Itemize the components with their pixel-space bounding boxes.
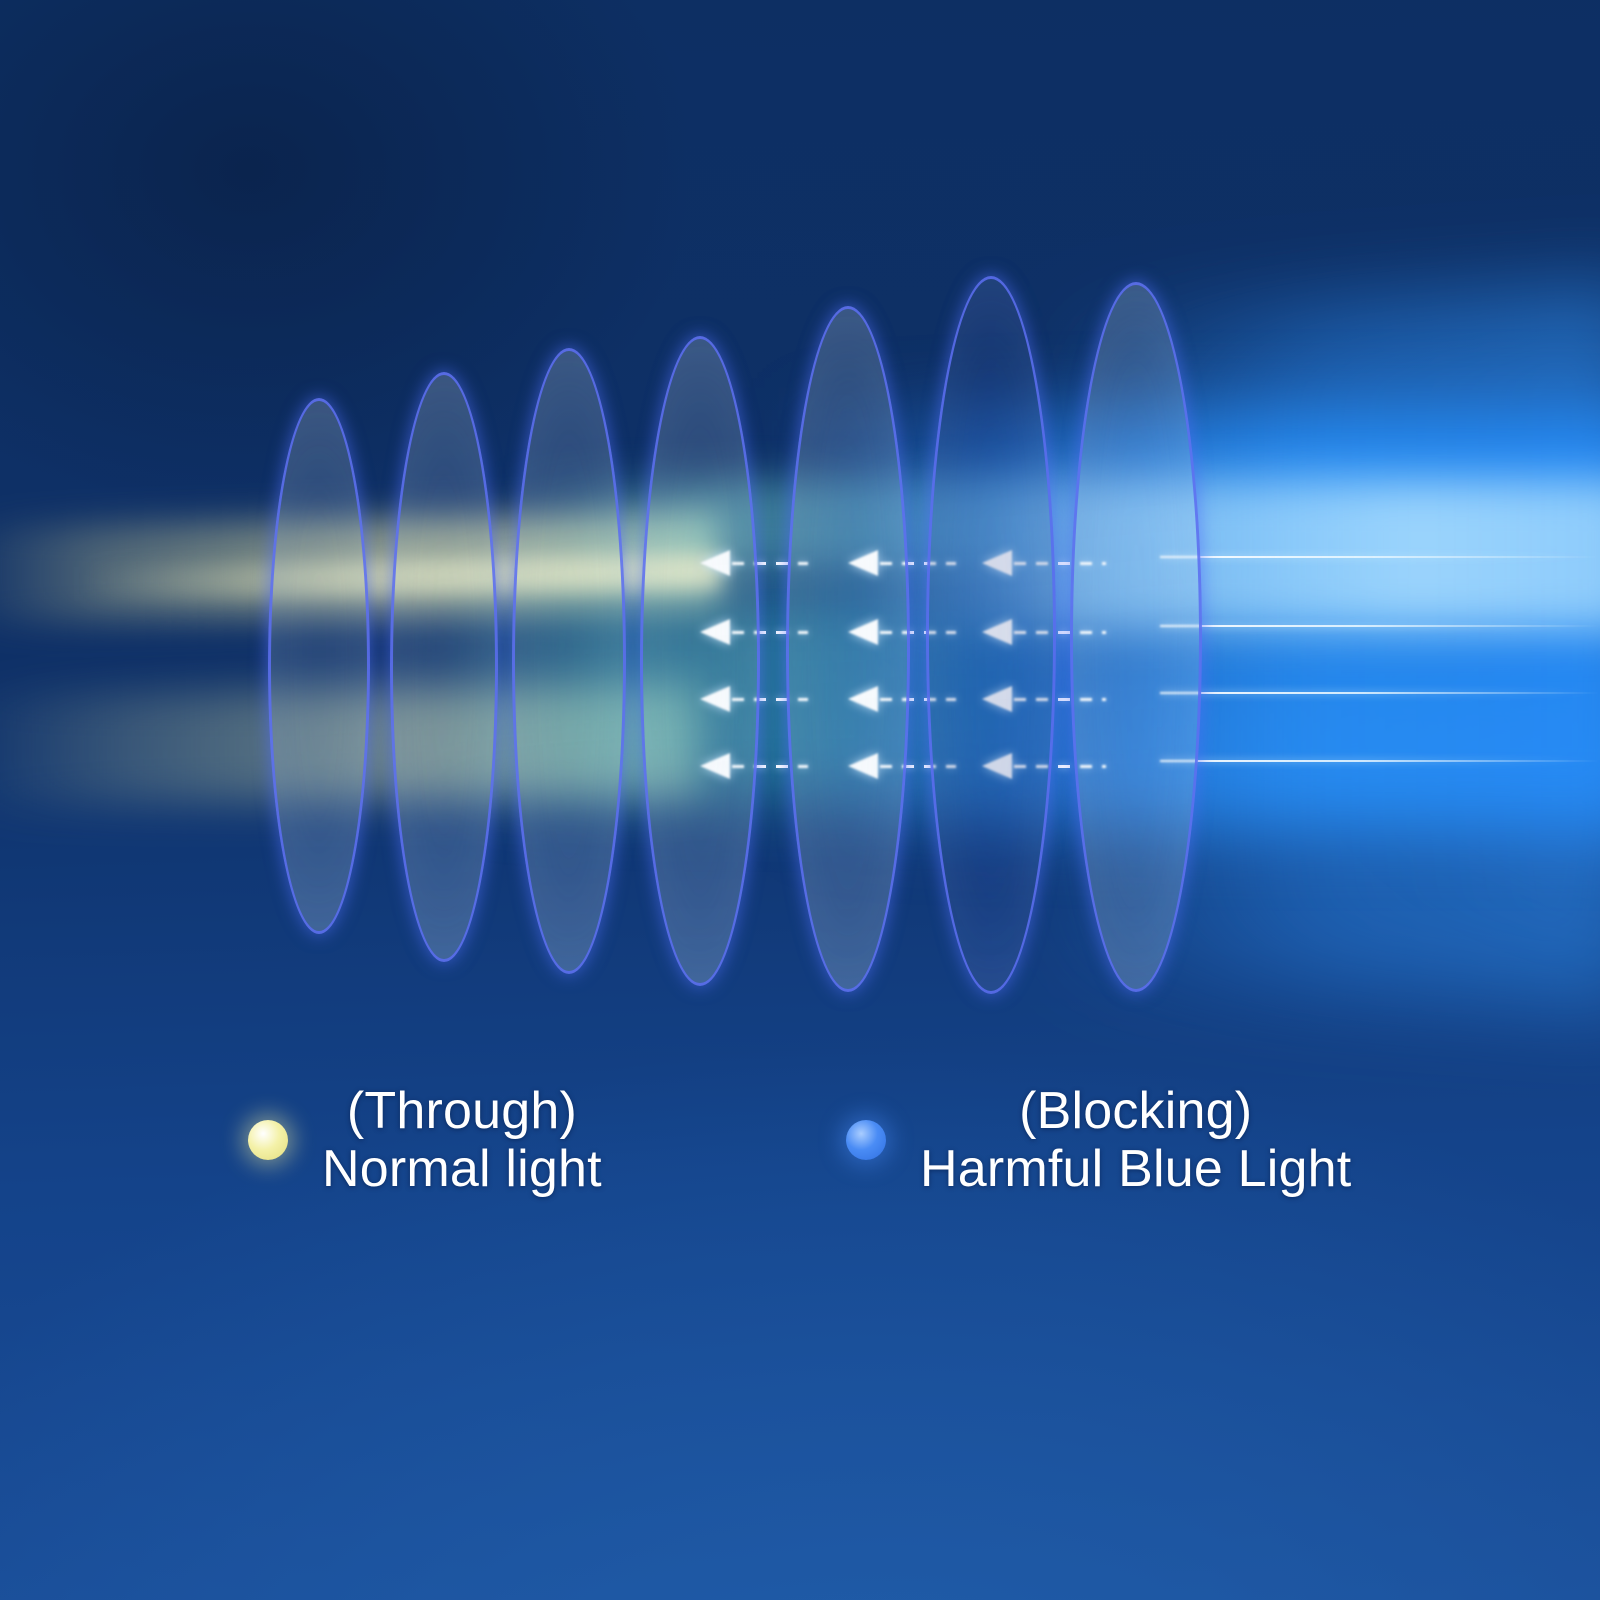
lens-5	[786, 306, 910, 992]
lens-4	[640, 336, 760, 986]
legend-label-normal-light-line2: Normal light	[322, 1140, 602, 1198]
legend-label-normal-light-line1: (Through)	[322, 1082, 602, 1140]
legend-label-harmful-blue-light-line2: Harmful Blue Light	[920, 1140, 1351, 1198]
lens-3	[512, 348, 626, 974]
legend-label-harmful-blue-light-line1: (Blocking)	[920, 1082, 1351, 1140]
blue-light-ray	[1160, 760, 1600, 762]
lens-6	[926, 276, 1056, 994]
lens-7	[1070, 282, 1202, 992]
blue-light-ray	[1160, 692, 1600, 694]
legend: (Through) Normal light (Blocking) Harmfu…	[0, 1070, 1600, 1220]
lens-2	[390, 372, 498, 962]
legend-label-normal-light: (Through) Normal light	[322, 1082, 602, 1198]
blue-light-ray	[1160, 556, 1600, 558]
normal-light-dot-icon	[248, 1120, 288, 1160]
legend-item-harmful-blue-light: (Blocking) Harmful Blue Light	[846, 1082, 1351, 1198]
legend-label-harmful-blue-light: (Blocking) Harmful Blue Light	[920, 1082, 1351, 1198]
blue-light-ray	[1160, 625, 1600, 627]
legend-item-normal-light: (Through) Normal light	[248, 1082, 602, 1198]
lens-1	[268, 398, 370, 934]
harmful-blue-light-dot-icon	[846, 1120, 886, 1160]
illustration-canvas: (Through) Normal light (Blocking) Harmfu…	[0, 0, 1600, 1600]
